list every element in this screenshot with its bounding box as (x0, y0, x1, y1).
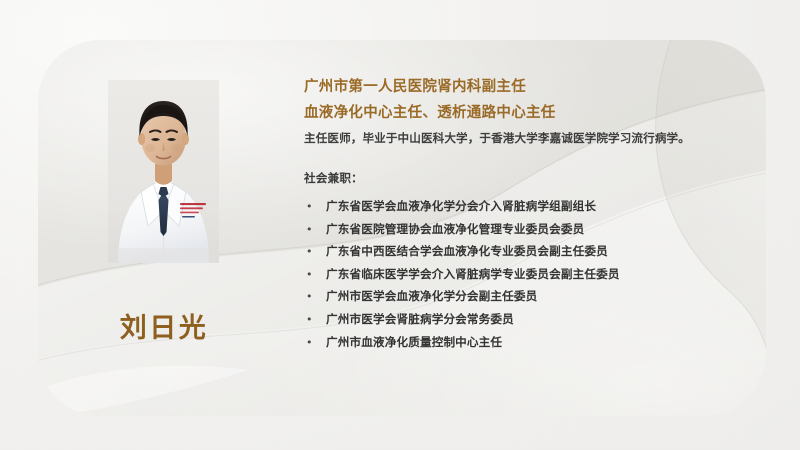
speaker-portrait-photo (108, 80, 219, 263)
list-item: • 广州市医学会肾脏病学分会常务委员 (304, 308, 736, 331)
list-item: • 广东省医学会血液净化学分会介入肾脏病学组副组长 (304, 195, 736, 218)
social-appointments-list: • 广东省医学会血液净化学分会介入肾脏病学组副组长 • 广东省医院管理协会血液净… (304, 195, 736, 353)
list-item-label: 广东省临床医学学会介入肾脏病学专业委员会副主任委员 (326, 263, 620, 286)
list-item-label: 广东省中西医结合学会血液净化专业委员会副主任委员 (326, 240, 608, 263)
portrait-illustration (108, 80, 219, 263)
speaker-name: 刘日光 (70, 306, 258, 345)
profile-text-block: 广州市第一人民医院肾内科副主任 血液净化中心主任、透析通路中心主任 主任医师，毕… (304, 74, 736, 353)
bullet-dot-icon: • (304, 286, 326, 309)
profile-title-line-1: 广州市第一人民医院肾内科副主任 (304, 74, 736, 100)
list-item-label: 广州市医学会血液净化学分会副主任委员 (326, 285, 537, 308)
list-item-label: 广东省医院管理协会血液净化管理专业委员会委员 (326, 218, 584, 241)
list-item-label: 广东省医学会血液净化学分会介入肾脏病学组副组长 (326, 195, 596, 218)
list-item: • 广东省医院管理协会血液净化管理专业委员会委员 (304, 218, 736, 241)
bullet-dot-icon: • (304, 332, 326, 355)
list-item: • 广东省临床医学学会介入肾脏病学专业委员会副主任委员 (304, 263, 736, 286)
bullet-dot-icon: • (304, 309, 326, 332)
list-item-label: 广州市医学会肾脏病学分会常务委员 (326, 308, 514, 331)
bullet-dot-icon: • (304, 196, 326, 219)
profile-subtitle: 主任医师，毕业于中山医科大学，于香港大学李嘉诚医学院学习流行病学。 (304, 129, 736, 147)
speaker-profile-slide: 刘日光 广州市第一人民医院肾内科副主任 血液净化中心主任、透析通路中心主任 主任… (0, 0, 800, 450)
bullet-dot-icon: • (304, 219, 326, 242)
social-appointments-label: 社会兼职： (304, 170, 736, 186)
list-item-label: 广州市血液净化质量控制中心主任 (326, 331, 502, 354)
list-item: • 广州市医学会血液净化学分会副主任委员 (304, 285, 736, 308)
bullet-dot-icon: • (304, 264, 326, 287)
profile-title-line-2: 血液净化中心主任、透析通路中心主任 (304, 100, 736, 126)
bullet-dot-icon: • (304, 241, 326, 264)
list-item: • 广东省中西医结合学会血液净化专业委员会副主任委员 (304, 240, 736, 263)
list-item: • 广州市血液净化质量控制中心主任 (304, 331, 736, 354)
